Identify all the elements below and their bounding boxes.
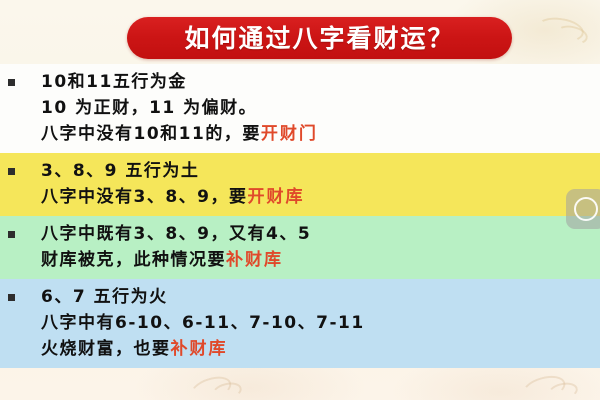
line-text: 八字中没有10和11的，要 xyxy=(41,124,261,144)
line-text: 10和11五行为金 xyxy=(41,72,187,92)
line-text: 八字中有6-10、6-11、7-10、7-11 xyxy=(41,313,365,333)
block-line: 八字中没有3、8、9，要开财库 xyxy=(41,184,594,210)
emphasis-text: 补财库 xyxy=(171,339,228,359)
cloud-watermark xyxy=(554,23,589,47)
circle-outline-icon xyxy=(574,197,598,221)
block-line: 6、7 五行为火 xyxy=(41,284,594,310)
emphasis-text: 开财门 xyxy=(261,124,318,144)
page-title: 如何通过八字看财运？ xyxy=(184,26,454,51)
line-text: 火烧财富，也要 xyxy=(41,339,171,359)
square-bullet-icon xyxy=(8,168,15,175)
block-line: 八字中没有10和11的，要开财门 xyxy=(41,121,594,147)
content-block-earth: 3、8、9 五行为土 八字中没有3、8、9，要开财库 xyxy=(0,153,600,216)
cloud-watermark xyxy=(188,372,235,400)
block-line: 10 为正财，11 为偏财。 xyxy=(41,95,594,121)
content-block-list: 10和11五行为金 10 为正财，11 为偏财。 八字中没有10和11的，要开财… xyxy=(0,64,600,368)
line-text: 3、8、9 五行为土 xyxy=(41,161,199,181)
title-banner: 如何通过八字看财运？ xyxy=(127,17,512,59)
line-text: 6、7 五行为火 xyxy=(41,287,168,307)
emphasis-text: 补财库 xyxy=(226,250,283,270)
content-block-fire: 6、7 五行为火 八字中有6-10、6-11、7-10、7-11 火烧财富，也要… xyxy=(0,279,600,368)
cloud-watermark xyxy=(210,380,243,400)
block-line: 火烧财富，也要补财库 xyxy=(41,336,594,362)
block-line: 八字中有6-10、6-11、7-10、7-11 xyxy=(41,310,594,336)
line-text: 八字中没有3、8、9，要 xyxy=(41,187,248,207)
block-line: 10和11五行为金 xyxy=(41,69,594,95)
line-text: 10 为正财，11 为偏财。 xyxy=(41,98,257,118)
block-line: 财库被克，此种情况要补财库 xyxy=(41,247,594,273)
content-block-metal: 10和11五行为金 10 为正财，11 为偏财。 八字中没有10和11的，要开财… xyxy=(0,64,600,153)
content-block-restrained: 八字中既有3、8、9，又有4、5 财库被克，此种情况要补财库 xyxy=(0,216,600,279)
cloud-watermark xyxy=(547,380,580,400)
floating-circle-button[interactable] xyxy=(566,189,600,229)
square-bullet-icon xyxy=(8,294,15,301)
cloud-watermark xyxy=(535,15,586,45)
cloud-watermark xyxy=(520,371,569,400)
block-line: 八字中既有3、8、9，又有4、5 xyxy=(41,221,594,247)
block-line: 3、8、9 五行为土 xyxy=(41,158,594,184)
emphasis-text: 开财库 xyxy=(248,187,305,207)
square-bullet-icon xyxy=(8,79,15,86)
line-text: 财库被克，此种情况要 xyxy=(41,250,226,270)
line-text: 八字中既有3、8、9，又有4、5 xyxy=(41,224,311,244)
square-bullet-icon xyxy=(8,231,15,238)
poster-canvas: 如何通过八字看财运？ 10和11五行为金 10 为正财，11 为偏财。 八字中没… xyxy=(0,0,600,400)
